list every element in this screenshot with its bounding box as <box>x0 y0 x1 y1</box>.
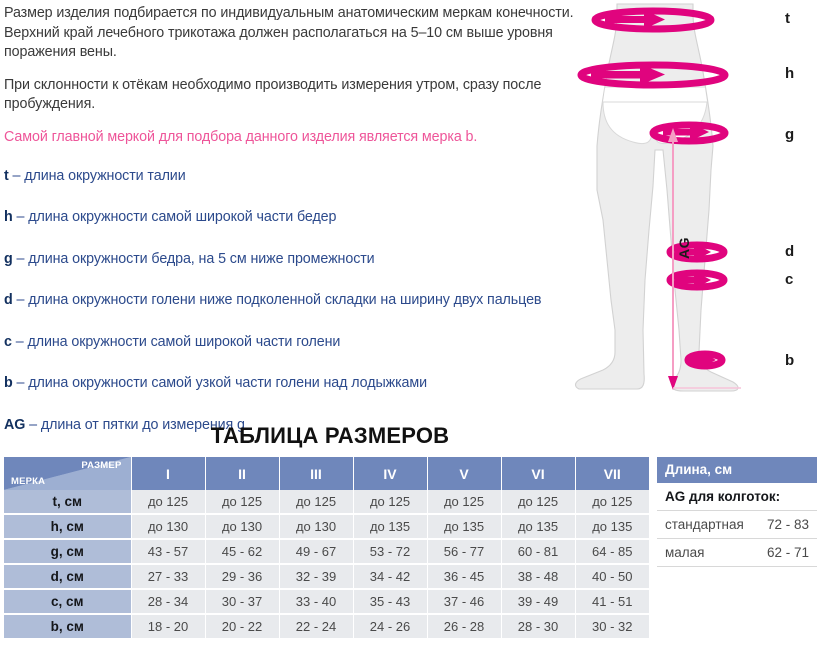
intro-paragraph-2: При склонности к отёкам необходимо произ… <box>4 76 604 115</box>
mark-label-c: c <box>785 271 793 288</box>
cell: 64 - 85 <box>575 539 649 564</box>
anatomical-diagram: t h g d c b <box>545 0 821 420</box>
definition-item-c: c – длина окружности самой широкой части… <box>4 334 604 351</box>
definition-key: c <box>4 334 12 350</box>
table-header-row: РАЗМЕР МЕРКА I II III IV V VI VII <box>4 457 649 490</box>
definition-text: – длина окружности голени ниже подколенн… <box>17 292 542 308</box>
ag-axis-label: AG <box>676 237 692 259</box>
table-row: c, см 28 - 34 30 - 37 33 - 40 35 - 43 37… <box>4 589 649 614</box>
length-row-name: стандартная <box>665 517 767 532</box>
cell: 49 - 67 <box>279 539 353 564</box>
cell: до 130 <box>279 514 353 539</box>
cell: до 135 <box>575 514 649 539</box>
row-label-c: c, см <box>4 589 131 614</box>
mark-label-d: d <box>785 243 794 260</box>
definition-text: – длина окружности самой широкой части б… <box>17 209 337 225</box>
key-measurement-note: Самой главной меркой для подбора данного… <box>4 128 604 148</box>
definition-item-b: b – длина окружности самой узкой части г… <box>4 375 604 392</box>
row-label-t: t, см <box>4 490 131 514</box>
length-row-name: малая <box>665 545 767 560</box>
definition-key: d <box>4 292 13 308</box>
measurement-definitions-list: t – длина окружности талии h – длина окр… <box>4 168 604 434</box>
cell: 39 - 49 <box>501 589 575 614</box>
length-panel-subheader: AG для колготок: <box>657 483 817 511</box>
text-column: Размер изделия подбирается по индивидуал… <box>4 4 604 458</box>
cell: 38 - 48 <box>501 564 575 589</box>
definition-key: g <box>4 251 13 267</box>
cell: до 125 <box>279 490 353 514</box>
row-label-h: h, см <box>4 514 131 539</box>
mark-label-h: h <box>785 65 794 82</box>
definition-key: b <box>4 375 13 391</box>
length-row-small: малая 62 - 71 <box>657 539 817 567</box>
cell: 37 - 46 <box>427 589 501 614</box>
definition-text: – длина окружности талии <box>13 168 186 184</box>
cell: 36 - 45 <box>427 564 501 589</box>
column-header-4: IV <box>353 457 427 490</box>
cell: 45 - 62 <box>205 539 279 564</box>
table-row: b, см 18 - 20 20 - 22 22 - 24 24 - 26 26… <box>4 614 649 639</box>
row-label-d: d, см <box>4 564 131 589</box>
table-row: t, см до 125 до 125 до 125 до 125 до 125… <box>4 490 649 514</box>
cell: 32 - 39 <box>279 564 353 589</box>
mark-label-t: t <box>785 10 790 27</box>
cell: 30 - 32 <box>575 614 649 639</box>
cell: 33 - 40 <box>279 589 353 614</box>
table-row: g, см 43 - 57 45 - 62 49 - 67 53 - 72 56… <box>4 539 649 564</box>
cell: 26 - 28 <box>427 614 501 639</box>
definition-item-d: d – длина окружности голени ниже подколе… <box>4 292 604 309</box>
cell: до 135 <box>501 514 575 539</box>
intro-paragraph-1: Размер изделия подбирается по индивидуал… <box>4 4 604 63</box>
definition-text: – длина окружности самой узкой части гол… <box>17 375 428 391</box>
column-header-1: I <box>131 457 205 490</box>
length-panel-header: Длина, см <box>657 457 817 483</box>
cell: 35 - 43 <box>353 589 427 614</box>
cell: 18 - 20 <box>131 614 205 639</box>
corner-merka-label: МЕРКА <box>11 476 45 487</box>
mark-label-g: g <box>785 126 794 143</box>
cell: 40 - 50 <box>575 564 649 589</box>
cell: 20 - 22 <box>205 614 279 639</box>
cell: 28 - 34 <box>131 589 205 614</box>
row-label-b: b, см <box>4 614 131 639</box>
cell: до 125 <box>575 490 649 514</box>
corner-size-label: РАЗМЕР <box>81 460 121 471</box>
table-row: h, см до 130 до 130 до 130 до 135 до 135… <box>4 514 649 539</box>
length-row-standard: стандартная 72 - 83 <box>657 511 817 539</box>
cell: 60 - 81 <box>501 539 575 564</box>
cell: до 125 <box>205 490 279 514</box>
waist-band <box>603 88 707 102</box>
corner-header-cell: РАЗМЕР МЕРКА <box>4 457 131 490</box>
cell: 43 - 57 <box>131 539 205 564</box>
cell: 24 - 26 <box>353 614 427 639</box>
length-panel: Длина, см AG для колготок: стандартная 7… <box>657 457 817 567</box>
mark-label-b: b <box>785 352 794 369</box>
cell: до 135 <box>353 514 427 539</box>
cell: до 135 <box>427 514 501 539</box>
row-label-g: g, см <box>4 539 131 564</box>
cell: до 125 <box>131 490 205 514</box>
column-header-2: II <box>205 457 279 490</box>
info-section: Размер изделия подбирается по индивидуал… <box>0 0 821 420</box>
size-table-title: ТАБЛИЦА РАЗМЕРОВ <box>0 423 660 449</box>
cell: 28 - 30 <box>501 614 575 639</box>
column-header-3: III <box>279 457 353 490</box>
cell: 34 - 42 <box>353 564 427 589</box>
length-row-value: 72 - 83 <box>767 517 809 532</box>
cell: 41 - 51 <box>575 589 649 614</box>
definition-text: – длина окружности бедра, на 5 см ниже п… <box>17 251 375 267</box>
table-row: d, см 27 - 33 29 - 36 32 - 39 34 - 42 36… <box>4 564 649 589</box>
column-header-6: VI <box>501 457 575 490</box>
cell: 30 - 37 <box>205 589 279 614</box>
definition-item-g: g – длина окружности бедра, на 5 см ниже… <box>4 251 604 268</box>
cell: до 130 <box>131 514 205 539</box>
column-header-5: V <box>427 457 501 490</box>
column-header-7: VII <box>575 457 649 490</box>
cell: 53 - 72 <box>353 539 427 564</box>
cell: до 130 <box>205 514 279 539</box>
definition-item-h: h – длина окружности самой широкой части… <box>4 209 604 226</box>
cell: 22 - 24 <box>279 614 353 639</box>
size-table: РАЗМЕР МЕРКА I II III IV V VI VII t, см … <box>4 457 649 640</box>
cell: до 125 <box>501 490 575 514</box>
cell: 27 - 33 <box>131 564 205 589</box>
definition-text: – длина окружности самой широкой части г… <box>16 334 341 350</box>
length-row-value: 62 - 71 <box>767 545 809 560</box>
cell: до 125 <box>353 490 427 514</box>
cell: до 125 <box>427 490 501 514</box>
legs-figure-svg <box>545 0 821 420</box>
definition-key: h <box>4 209 13 225</box>
definition-item-t: t – длина окружности талии <box>4 168 604 185</box>
cell: 29 - 36 <box>205 564 279 589</box>
cell: 56 - 77 <box>427 539 501 564</box>
definition-key: t <box>4 168 9 184</box>
